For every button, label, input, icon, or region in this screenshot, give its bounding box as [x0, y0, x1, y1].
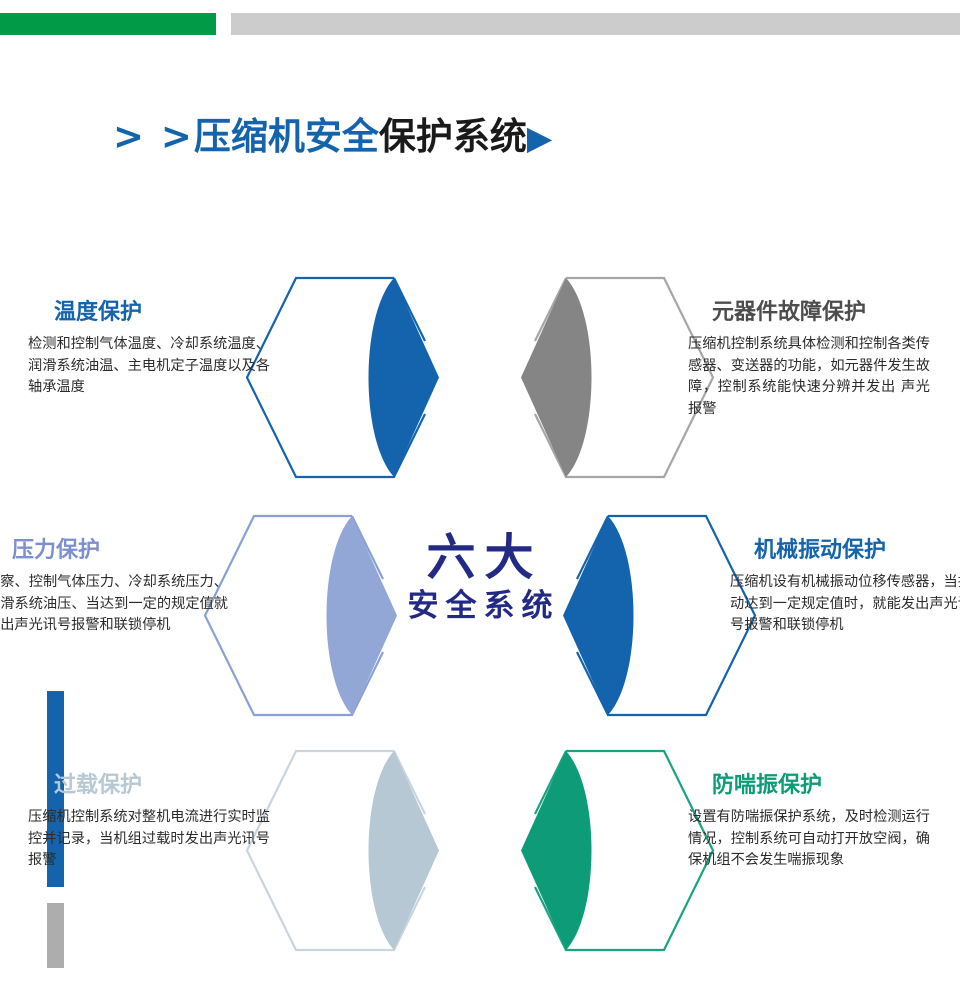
cell-overload-protection[interactable]: 过载保护 压缩机控制系统对整机电流进行实时监控并记录，当机组过载时发出声光讯号报… — [0, 743, 480, 983]
cell-title: 机械振动保护 — [754, 538, 960, 563]
cell-body: 设置有防喘振保护系统，及时检测运行情况，控制系统可自动打开放空阀，确保机组不会发… — [688, 807, 930, 872]
cell-body: 观察、控制气体压力、冷却系统压力、润滑系统油压、当达到一定的规定值就发出声光讯号… — [0, 572, 228, 637]
cell-component-fault-protection[interactable]: 元器件故障保护 压缩机控制系统具体检测和控制各类传感器、变送器的功能，如元器件发… — [480, 270, 960, 510]
cell-mechanical-vibration-protection[interactable]: 机械振动保护 压缩机设有机械振动位移传感器，当振动达到一定规定值时，就能发出声光… — [522, 508, 960, 748]
chevron-right-icon: > > — [113, 115, 194, 158]
hexagon-shape-left — [242, 270, 442, 485]
hex-petal — [369, 751, 440, 950]
cell-title: 压力保护 — [12, 538, 228, 563]
hex-petal — [369, 278, 440, 477]
cell-pressure-protection[interactable]: 压力保护 观察、控制气体压力、冷却系统压力、润滑系统油压、当达到一定的规定值就发… — [0, 508, 438, 748]
hexagon-shape-left — [242, 743, 442, 958]
cell-title: 过载保护 — [54, 773, 270, 798]
cell-title: 元器件故障保护 — [712, 300, 930, 325]
cell-temperature-protection[interactable]: 温度保护 检测和控制气体温度、冷却系统温度、润滑系统油温、主电机定子温度以及各轴… — [0, 270, 480, 510]
cell-body: 压缩机设有机械振动位移传感器，当振动达到一定规定值时，就能发出声光讯号报警和联锁… — [730, 572, 960, 637]
hex-petal — [327, 516, 398, 715]
cell-body: 检测和控制气体温度、冷却系统温度、润滑系统油温、主电机定子温度以及各轴承温度 — [28, 334, 270, 399]
cell-textbox: 元器件故障保护 压缩机控制系统具体检测和控制各类传感器、变送器的功能，如元器件发… — [688, 300, 930, 421]
hex-petal — [521, 278, 592, 477]
cell-textbox: 温度保护 检测和控制气体温度、冷却系统温度、润滑系统油温、主电机定子温度以及各轴… — [28, 300, 270, 399]
cell-body: 压缩机控制系统具体检测和控制各类传感器、变送器的功能，如元器件发生故障，控制系统… — [688, 334, 930, 420]
top-accent-bar-green — [0, 13, 216, 35]
page-title: > >压缩机安全保护系统▶ — [113, 118, 552, 155]
hex-petal — [521, 751, 592, 950]
cell-textbox: 机械振动保护 压缩机设有机械振动位移传感器，当振动达到一定规定值时，就能发出声光… — [730, 538, 960, 637]
cell-textbox: 防喘振保护 设置有防喘振保护系统，及时检测运行情况，控制系统可自动打开放空阀，确… — [688, 773, 930, 872]
cell-anti-surge-protection[interactable]: 防喘振保护 设置有防喘振保护系统，及时检测运行情况，控制系统可自动打开放空阀，确… — [480, 743, 960, 983]
cell-title: 温度保护 — [54, 300, 270, 325]
top-accent-bar-gray — [231, 13, 960, 35]
triangle-right-icon: ▶ — [527, 118, 552, 157]
hexagon-shape-left — [200, 508, 400, 723]
page-title-dark: 保护系统 — [379, 115, 527, 158]
hexagon-grid: 温度保护 检测和控制气体温度、冷却系统温度、润滑系统油温、主电机定子温度以及各轴… — [0, 250, 960, 968]
cell-textbox: 过载保护 压缩机控制系统对整机电流进行实时监控并记录，当机组过载时发出声光讯号报… — [28, 773, 270, 872]
cell-title: 防喘振保护 — [712, 773, 930, 798]
cell-body: 压缩机控制系统对整机电流进行实时监控并记录，当机组过载时发出声光讯号报警 — [28, 807, 270, 872]
hex-petal — [563, 516, 634, 715]
page-title-blue: 压缩机安全 — [194, 115, 379, 158]
cell-textbox: 压力保护 观察、控制气体压力、冷却系统压力、润滑系统油压、当达到一定的规定值就发… — [0, 538, 228, 637]
